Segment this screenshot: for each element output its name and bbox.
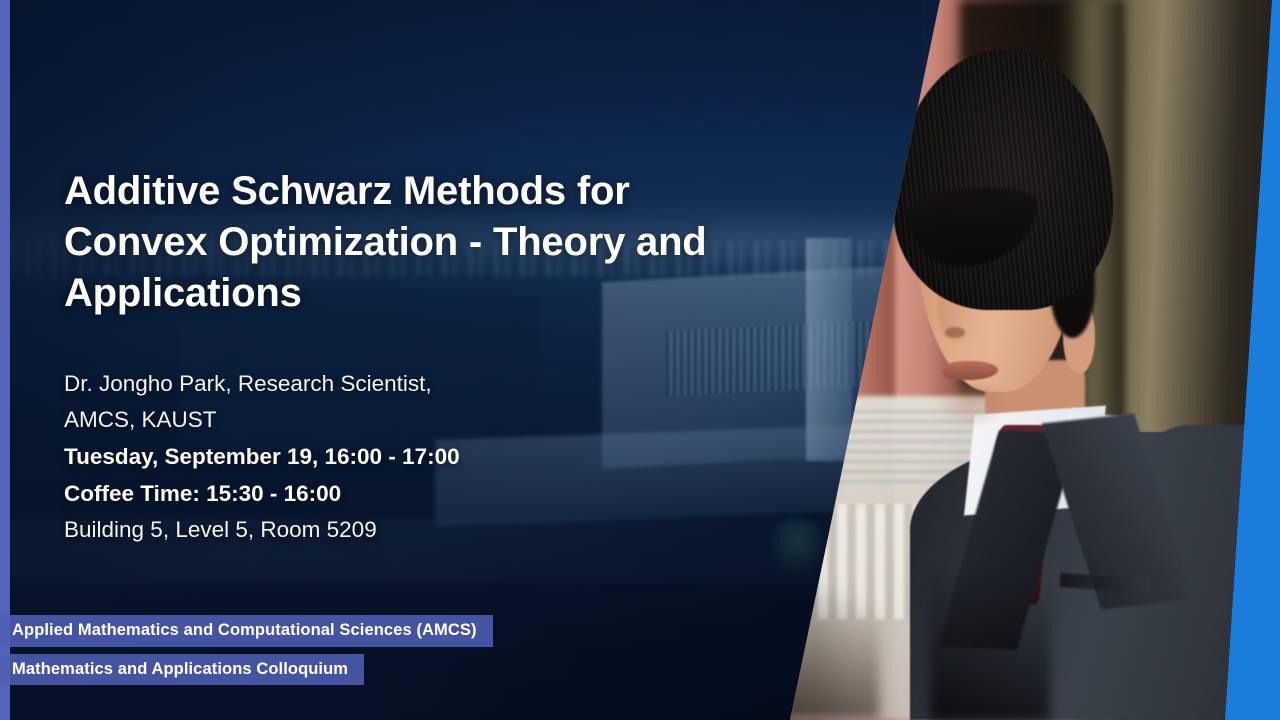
lecture-title: Additive Schwarz Methods for Convex Opti…	[64, 166, 744, 320]
nostril	[945, 327, 965, 338]
colloquium-announcement-slide: Additive Schwarz Methods for Convex Opti…	[0, 0, 1280, 720]
detail-line-affiliation: AMCS, KAUST	[64, 402, 764, 439]
detail-line-speaker: Dr. Jongho Park, Research Scientist,	[64, 366, 764, 403]
banner-series: Mathematics and Applications Colloquium	[0, 654, 364, 686]
bottom-banner-group: Applied Mathematics and Computational Sc…	[0, 615, 493, 685]
banner-department: Applied Mathematics and Computational Sc…	[0, 615, 493, 647]
arm-shadow	[930, 533, 1050, 720]
text-column: Additive Schwarz Methods for Convex Opti…	[64, 0, 764, 720]
detail-line-location: Building 5, Level 5, Room 5209	[64, 512, 764, 549]
hair	[893, 50, 1113, 309]
left-accent-strip	[0, 0, 10, 720]
detail-line-datetime: Tuesday, September 19, 16:00 - 17:00	[64, 439, 764, 476]
chin	[935, 385, 1010, 428]
detail-line-coffee-time: Coffee Time: 15:30 - 16:00	[64, 476, 764, 513]
lecture-details: Dr. Jongho Park, Research Scientist, AMC…	[64, 366, 764, 549]
